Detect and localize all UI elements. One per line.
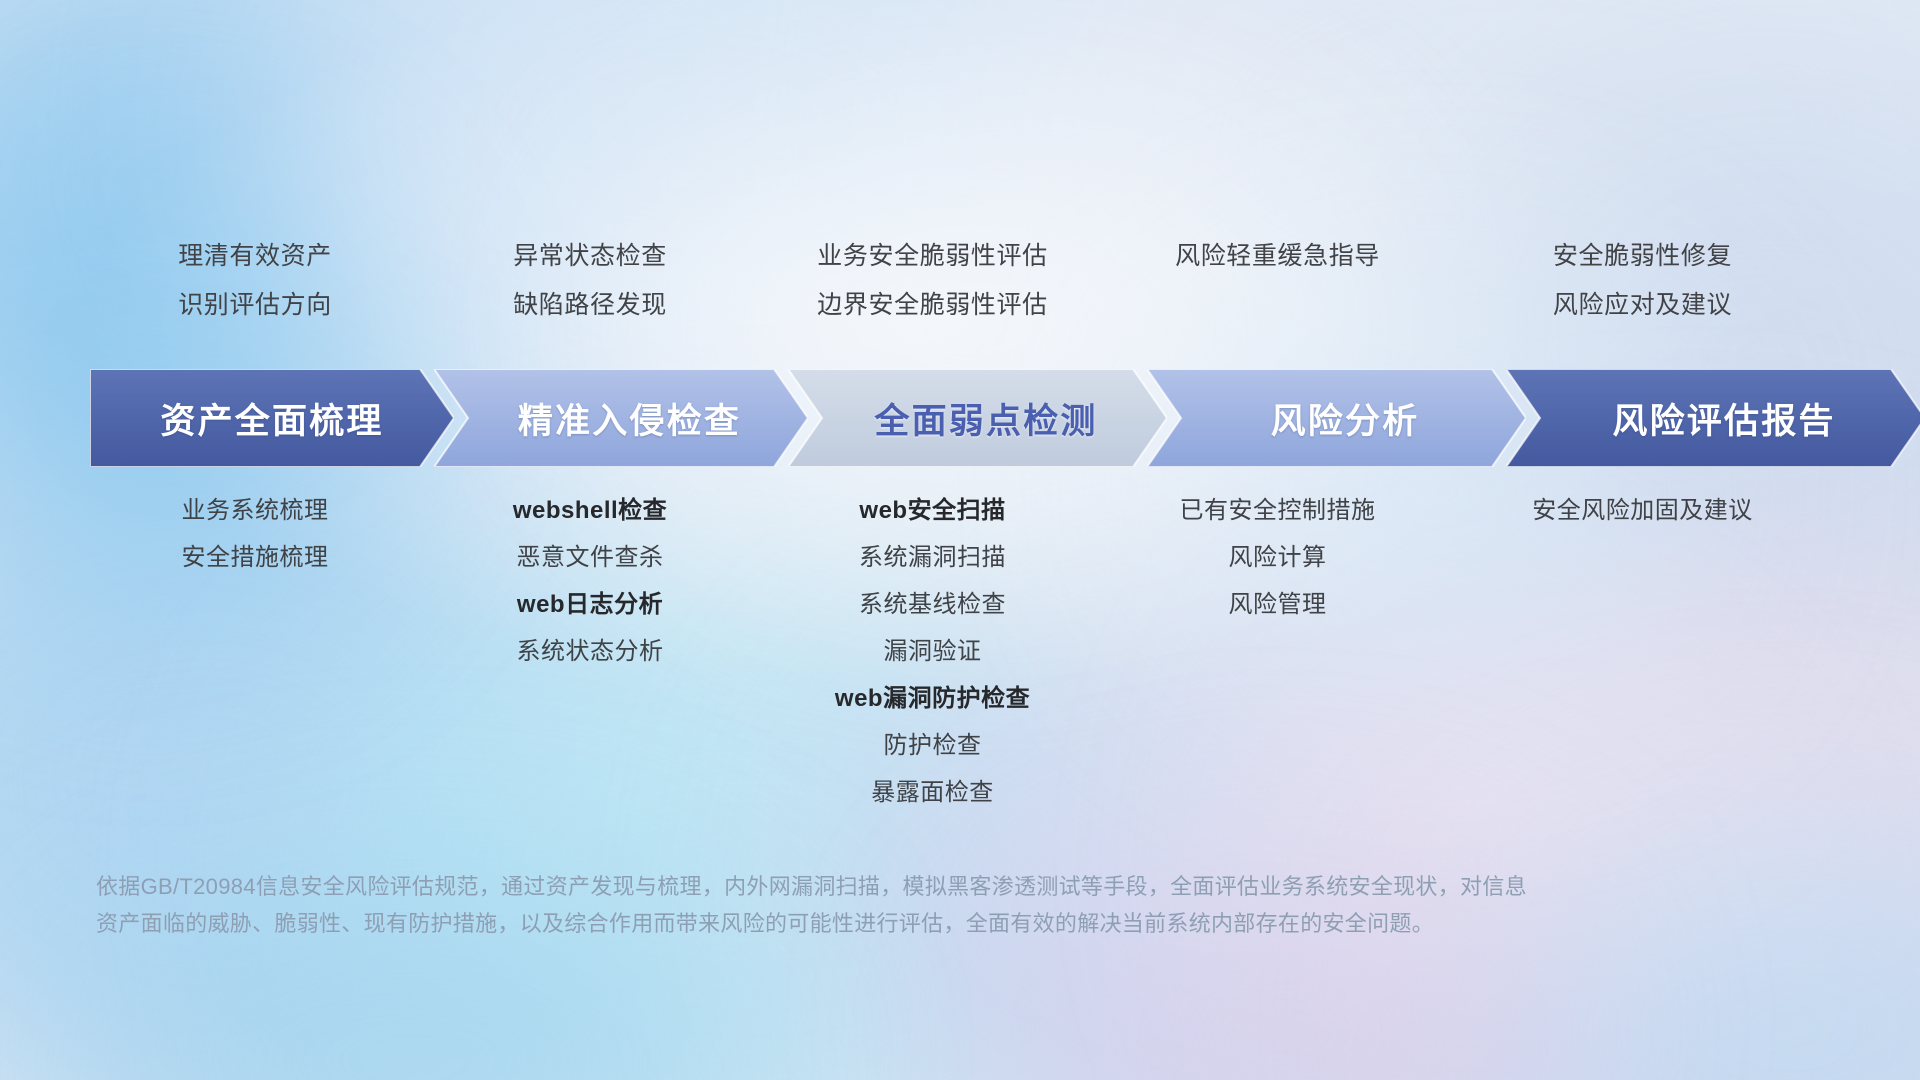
chevron-label: 资产全面梳理	[160, 393, 383, 444]
chevron-step-5[interactable]: 风险评估报告	[1506, 369, 1920, 467]
top-item: 理清有效资产	[90, 232, 420, 281]
top-column-2: 异常状态检查缺陷路径发现	[420, 232, 760, 330]
bottom-item: 系统漏洞扫描	[760, 534, 1105, 581]
chevron-label: 风险分析	[1271, 393, 1420, 444]
top-column-5: 安全脆弱性修复风险应对及建议	[1450, 232, 1835, 330]
bottom-item: 防护检查	[760, 722, 1105, 769]
bottom-item: 风险计算	[1105, 534, 1450, 581]
slide-canvas: 理清有效资产识别评估方向异常状态检查缺陷路径发现业务安全脆弱性评估边界安全脆弱性…	[0, 0, 1920, 1080]
bottom-item: 风险管理	[1105, 581, 1450, 628]
top-items-row: 理清有效资产识别评估方向异常状态检查缺陷路径发现业务安全脆弱性评估边界安全脆弱性…	[90, 232, 1835, 330]
top-item: 异常状态检查	[420, 232, 760, 281]
bottom-item: web日志分析	[420, 581, 760, 628]
footer-line-2: 资产面临的威胁、脆弱性、现有防护措施，以及综合作用而带来风险的可能性进行评估，全…	[96, 905, 1656, 942]
bottom-column-5: 安全风险加固及建议	[1450, 487, 1835, 816]
top-item: 风险轻重缓急指导	[1105, 232, 1450, 281]
chevron-step-2[interactable]: 精准入侵检查	[434, 369, 808, 467]
top-item: 业务安全脆弱性评估	[760, 232, 1105, 281]
bottom-column-2: webshell检查恶意文件查杀web日志分析系统状态分析	[420, 487, 760, 816]
chevron-label: 精准入侵检查	[518, 393, 741, 444]
chevron-step-4[interactable]: 风险分析	[1147, 369, 1526, 467]
footer-line-1: 依据GB/T20984信息安全风险评估规范，通过资产发现与梳理，内外网漏洞扫描，…	[96, 868, 1656, 905]
bottom-item: 恶意文件查杀	[420, 534, 760, 581]
bottom-item: 系统状态分析	[420, 628, 760, 675]
chevron-label: 风险评估报告	[1612, 393, 1835, 444]
top-item: 缺陷路径发现	[420, 281, 760, 330]
top-column-1: 理清有效资产识别评估方向	[90, 232, 420, 330]
bottom-item: 安全风险加固及建议	[1450, 487, 1835, 534]
bottom-item: 安全措施梳理	[90, 534, 420, 581]
bottom-item: 暴露面检查	[760, 769, 1105, 816]
top-item: 边界安全脆弱性评估	[760, 281, 1105, 330]
footer-description: 依据GB/T20984信息安全风险评估规范，通过资产发现与梳理，内外网漏洞扫描，…	[96, 868, 1656, 942]
bottom-items-row: 业务系统梳理安全措施梳理webshell检查恶意文件查杀web日志分析系统状态分…	[90, 487, 1835, 816]
bottom-item: 漏洞验证	[760, 628, 1105, 675]
top-item: 识别评估方向	[90, 281, 420, 330]
top-column-4: 风险轻重缓急指导	[1105, 232, 1450, 330]
bottom-column-4: 已有安全控制措施风险计算风险管理	[1105, 487, 1450, 816]
bottom-column-1: 业务系统梳理安全措施梳理	[90, 487, 420, 816]
process-chevron-band: 资产全面梳理 精准入侵检查 全面弱点检测 风险分析	[90, 369, 1838, 467]
chevron-step-1[interactable]: 资产全面梳理	[90, 369, 454, 467]
bottom-item: 已有安全控制措施	[1105, 487, 1450, 534]
top-column-3: 业务安全脆弱性评估边界安全脆弱性评估	[760, 232, 1105, 330]
top-item: 安全脆弱性修复	[1450, 232, 1835, 281]
bottom-item: webshell检查	[420, 487, 760, 534]
top-item: 风险应对及建议	[1450, 281, 1835, 330]
bottom-item: web漏洞防护检查	[760, 675, 1105, 722]
bottom-item: 系统基线检查	[760, 581, 1105, 628]
bottom-column-3: web安全扫描系统漏洞扫描系统基线检查漏洞验证web漏洞防护检查防护检查暴露面检…	[760, 487, 1105, 816]
chevron-step-3[interactable]: 全面弱点检测	[788, 369, 1167, 467]
chevron-label: 全面弱点检测	[874, 393, 1097, 444]
bottom-item: web安全扫描	[760, 487, 1105, 534]
bottom-item: 业务系统梳理	[90, 487, 420, 534]
